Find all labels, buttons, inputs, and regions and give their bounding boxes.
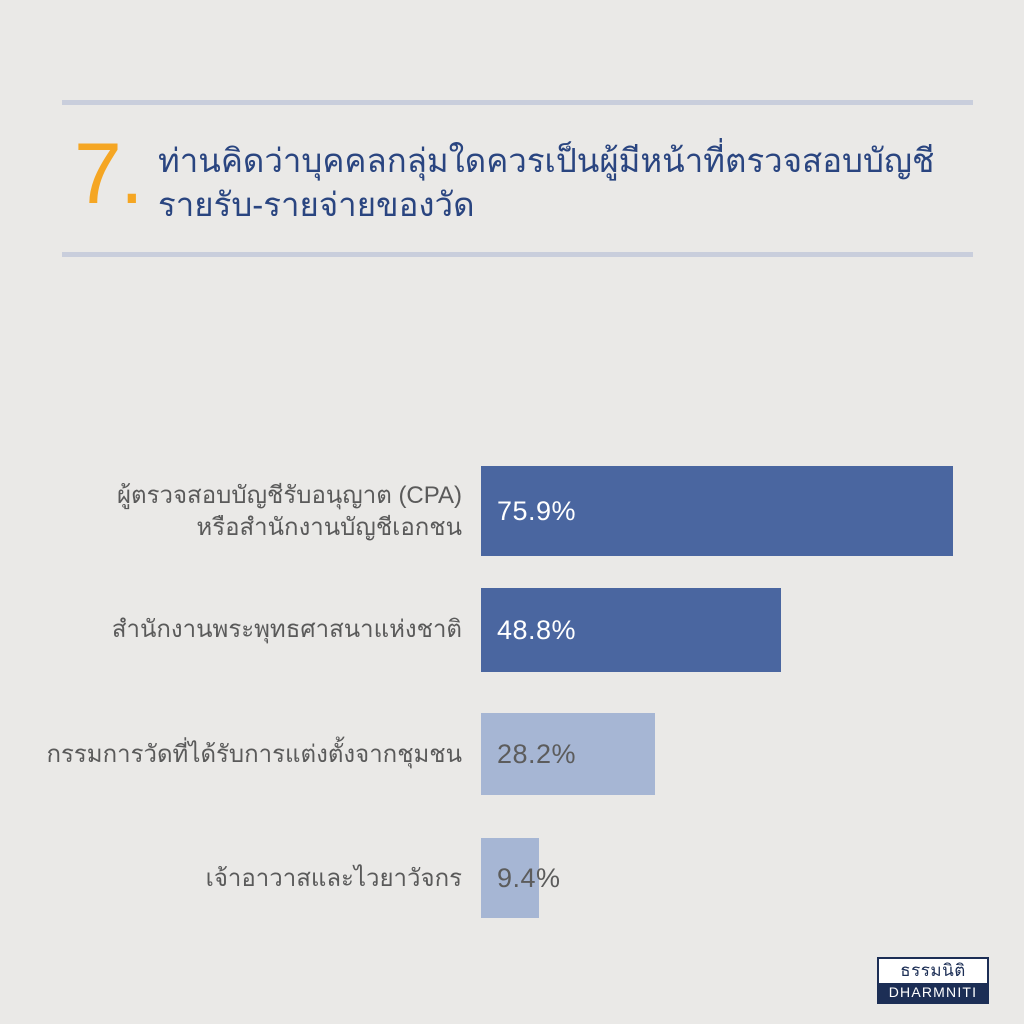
header-bottom-divider — [62, 252, 973, 257]
bar-track: 48.8% — [481, 588, 781, 672]
bar-track: 9.4% — [481, 838, 539, 918]
bar-fill[interactable]: 9.4% — [481, 838, 539, 918]
page-title: ท่านคิดว่าบุคคลกลุ่มใดควรเป็นผู้มีหน้าที… — [158, 135, 934, 226]
bar-label-line-1: เจ้าอาวาสและไวยาวัจกร — [2, 863, 462, 895]
bar-value-label: 9.4% — [481, 863, 561, 894]
bar-label-line-1: กรรมการวัดที่ได้รับการแต่งตั้งจากชุมชน — [2, 739, 462, 771]
bar-label-line-2: หรือสำนักงานบัญชีเอกชน — [2, 512, 462, 544]
question-header: 7. ท่านคิดว่าบุคคลกลุ่มใดควรเป็นผู้มีหน้… — [62, 100, 973, 257]
bar-fill[interactable]: 75.9% — [481, 466, 953, 556]
bar-fill[interactable]: 28.2% — [481, 713, 655, 795]
bar-track: 75.9% — [481, 466, 953, 556]
bar-value-label: 48.8% — [481, 615, 576, 646]
question-title-line-1: ท่านคิดว่าบุคคลกลุ่มใดควรเป็นผู้มีหน้าที… — [158, 139, 934, 183]
bar-label: เจ้าอาวาสและไวยาวัจกร — [2, 863, 462, 895]
bar-value-label: 28.2% — [481, 739, 576, 770]
bar-label: สำนักงานพระพุทธศาสนาแห่งชาติ — [2, 614, 462, 646]
question-title-line-2: รายรับ-รายจ่ายของวัด — [158, 183, 934, 227]
dharmniti-logo: ธรรมนิติ DHARMNITI — [877, 957, 989, 1004]
bar-fill[interactable]: 48.8% — [481, 588, 781, 672]
logo-latin-text: DHARMNITI — [879, 983, 987, 1002]
bar-chart: ผู้ตรวจสอบบัญชีรับอนุญาต (CPA) หรือสำนัก… — [0, 455, 1024, 935]
bar-label-line-1: สำนักงานพระพุทธศาสนาแห่งชาติ — [2, 614, 462, 646]
bar-value-label: 75.9% — [481, 496, 576, 527]
logo-thai-text: ธรรมนิติ — [879, 959, 987, 983]
question-number: 7. — [62, 135, 158, 214]
bar-label: กรรมการวัดที่ได้รับการแต่งตั้งจากชุมชน — [2, 739, 462, 771]
bar-track: 28.2% — [481, 713, 655, 795]
bar-label-line-1: ผู้ตรวจสอบบัญชีรับอนุญาต (CPA) — [2, 480, 462, 512]
header-content: 7. ท่านคิดว่าบุคคลกลุ่มใดควรเป็นผู้มีหน้… — [62, 105, 973, 252]
bar-label: ผู้ตรวจสอบบัญชีรับอนุญาต (CPA) หรือสำนัก… — [2, 480, 462, 545]
